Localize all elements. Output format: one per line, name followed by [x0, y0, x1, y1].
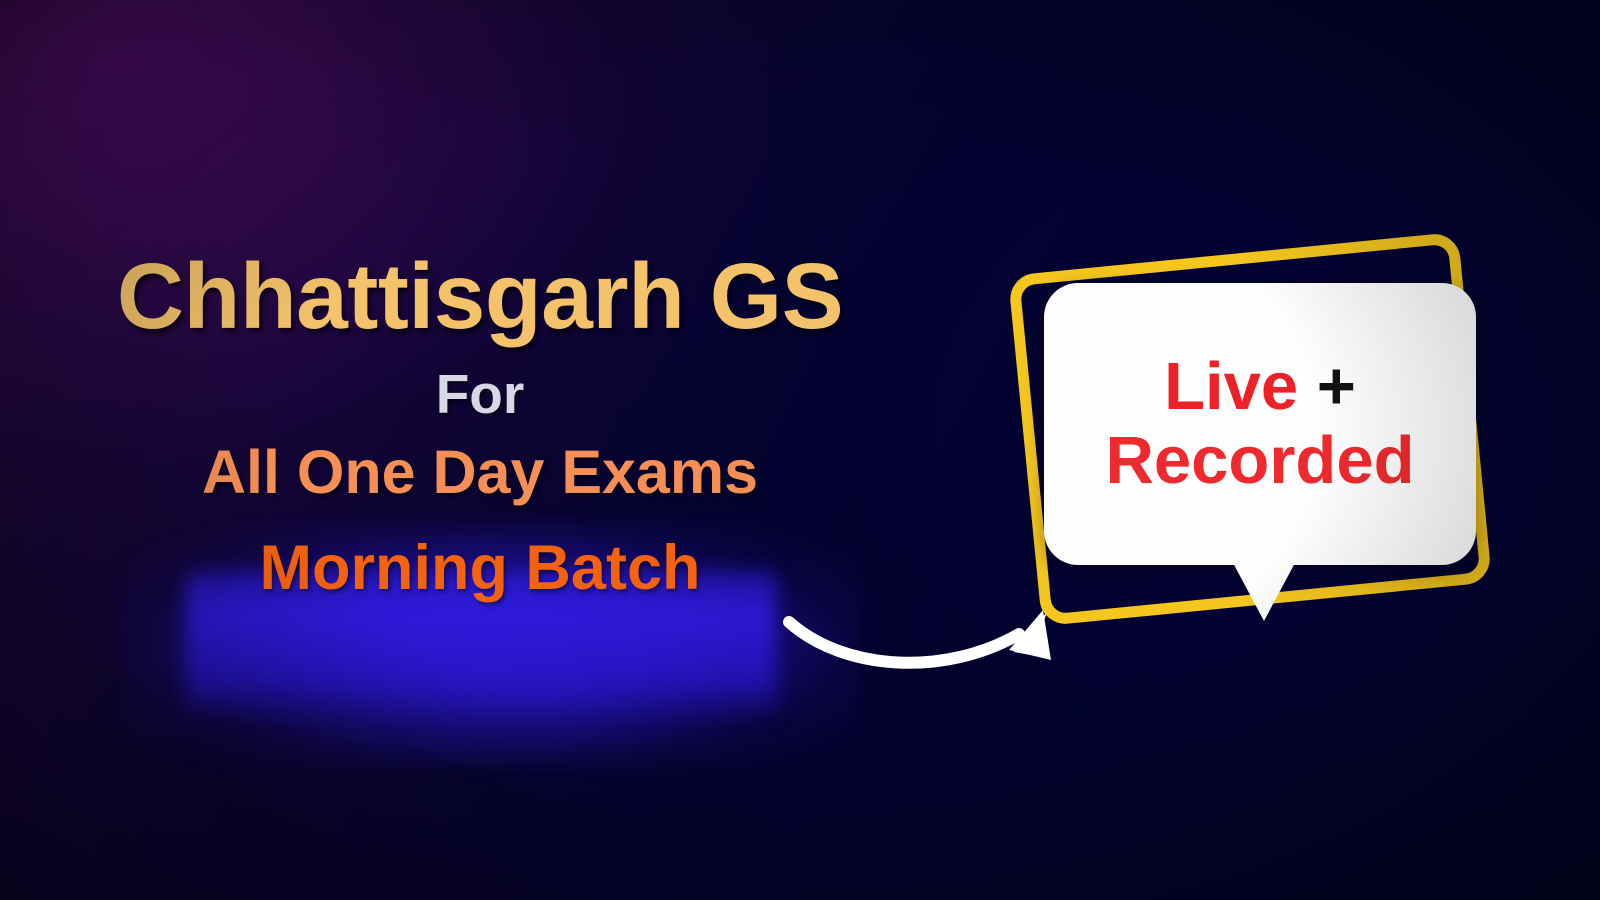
badge-recorded-label: Recorded — [1105, 426, 1414, 496]
headline-audience: All One Day Exams — [40, 442, 920, 503]
badge-plus-icon: + — [1317, 349, 1356, 424]
headline-block: Chhattisgarh GS For All One Day Exams Mo… — [40, 250, 920, 600]
badge-live-label: Live — [1164, 349, 1298, 424]
live-recorded-badge: Live + Recorded — [1010, 235, 1520, 645]
badge-text-block: Live + Recorded — [1044, 283, 1476, 565]
badge-line-one: Live + — [1164, 352, 1356, 422]
headline-connector: For — [40, 367, 920, 422]
speech-bubble-tail-icon — [1232, 561, 1296, 621]
page-title: Chhattisgarh GS — [40, 250, 920, 343]
promo-banner: Chhattisgarh GS For All One Day Exams Mo… — [0, 0, 1600, 900]
